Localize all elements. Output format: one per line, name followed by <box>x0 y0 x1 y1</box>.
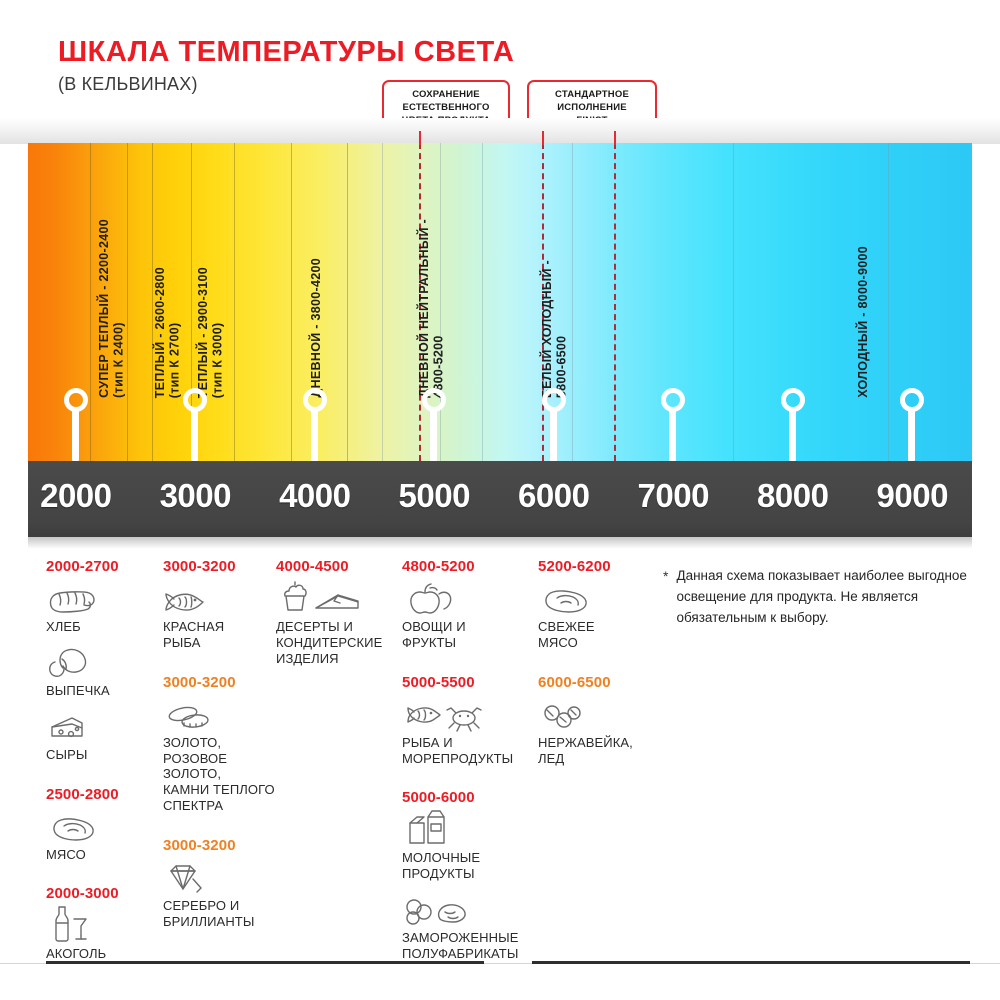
scale-number-8000: 8000 <box>757 477 828 515</box>
legend-group-gap <box>538 660 658 674</box>
bottom-rule-right <box>532 961 970 964</box>
scale-number-6000: 6000 <box>518 477 589 515</box>
legend-item-caption: МОЛОЧНЫЕ ПРОДУКТЫ <box>402 850 538 882</box>
legend-item-caption: СЫРЫ <box>46 747 158 763</box>
bread-icon <box>46 580 158 616</box>
pin-stem <box>72 409 79 461</box>
legend-item-caption: СЕРЕБРО ИБРИЛЛИАНТЫ <box>163 898 275 930</box>
scale-number-2000: 2000 <box>40 477 111 515</box>
scale-number-3000: 3000 <box>160 477 231 515</box>
scale-bar-shadow <box>28 537 972 549</box>
pin-stem <box>430 409 437 461</box>
cupcake-cake-icon <box>276 580 400 616</box>
legend-group-gap <box>402 660 538 674</box>
legend-range-label: 3000-3200 <box>163 674 275 691</box>
legend-group-gap <box>46 871 158 885</box>
frozen-food-icon <box>402 891 538 927</box>
callout-line: ИСПОЛНЕНИЕ <box>535 102 649 115</box>
legend-group-gap <box>163 823 275 837</box>
legend-item: СЕРЕБРО ИБРИЛЛИАНТЫ <box>163 859 275 930</box>
cheese-icon <box>46 708 158 744</box>
legend-item: ЗАМОРОЖЕННЫЕПОЛУФАБРИКАТЫ <box>402 891 538 962</box>
legend-item: СЫРЫ <box>46 708 158 763</box>
pastry-icon <box>46 644 158 680</box>
callout-stem <box>614 131 616 145</box>
meat-icon <box>46 808 158 844</box>
legend-range-label: 5200-6200 <box>538 558 658 575</box>
pin-stem <box>311 409 318 461</box>
spectrum-dashed-marker <box>614 143 616 461</box>
legend-item: КРАСНАЯРЫБА <box>163 580 275 651</box>
legend-range-label: 6000-6500 <box>538 674 658 691</box>
callout-line: СТАНДАРТНОЕ <box>535 89 649 102</box>
legend-range-label: 4000-4500 <box>276 558 400 575</box>
spectrum-label-warm-3000: ТЕПЛЫЙ - 2900-3100 (тип К 3000) <box>196 267 225 398</box>
fresh-meat-icon <box>538 580 658 616</box>
legend-group-gap <box>402 775 538 789</box>
callout-stem <box>419 131 421 145</box>
legend-range-label: 2500-2800 <box>46 786 158 803</box>
spectrum-chart: СУПЕР ТЕПЛЫЙ - 2200-2400 (тип К 2400)ТЕП… <box>28 143 972 461</box>
diamond-icon <box>163 859 275 895</box>
page-title: ШКАЛА ТЕМПЕРАТУРЫ СВЕТА <box>58 36 514 69</box>
spectrum-divider <box>234 143 235 461</box>
legend-item-caption: КРАСНАЯРЫБА <box>163 619 275 651</box>
legend-column-4: 4800-5200ОВОЩИ ИФРУКТЫ5000-5500РЫБА ИМОР… <box>402 558 538 971</box>
legend-range-label: 5000-6000 <box>402 789 538 806</box>
spectrum-label-daylight: ДНЕВНОЙ - 3800-4200 <box>309 258 323 398</box>
legend-item-caption: РЫБА ИМОРЕПРОДУКТЫ <box>402 735 538 767</box>
scale-number-7000: 7000 <box>638 477 709 515</box>
legend-range-label: 2000-3000 <box>46 885 158 902</box>
legend-group-gap <box>163 660 275 674</box>
pin-stem <box>191 409 198 461</box>
legend-range-label: 3000-3200 <box>163 837 275 854</box>
legend-item-caption: ХЛЕБ <box>46 619 158 635</box>
legend-range-label: 3000-3200 <box>163 558 275 575</box>
legend-item: МЯСО <box>46 808 158 863</box>
spectrum-divider <box>382 143 383 461</box>
spectrum-label-daylight-neutral: ДНЕВНОЙ НЕЙТРАЛЬНЫЙ - 4800-5200 <box>417 219 446 398</box>
scale-number-9000: 9000 <box>877 477 948 515</box>
spectrum-divider <box>733 143 734 461</box>
spectrum-divider <box>90 143 91 461</box>
fish-crab-icon <box>402 696 538 732</box>
legend-range-label: 4800-5200 <box>402 558 538 575</box>
legend-range-label: 5000-5500 <box>402 674 538 691</box>
legend-item-caption: ВЫПЕЧКА <box>46 683 158 699</box>
spectrum-divider <box>482 143 483 461</box>
legend-item: ХЛЕБ <box>46 580 158 635</box>
legend-item-caption: ДЕСЕРТЫ ИКОНДИТЕРСКИЕИЗДЕЛИЯ <box>276 619 400 667</box>
legend-column-2: 3000-3200КРАСНАЯРЫБА3000-3200ЗОЛОТО,РОЗО… <box>163 558 275 939</box>
legend-range-label: 2000-2700 <box>46 558 158 575</box>
legend-item: МОЛОЧНЫЕ ПРОДУКТЫ <box>402 811 538 882</box>
legend-item-caption: НЕРЖАВЕЙКА,ЛЕД <box>538 735 658 767</box>
fruit-vegetable-icon <box>402 580 538 616</box>
fish-icon <box>163 580 275 616</box>
top-shade-band <box>0 118 1000 144</box>
spectrum-divider <box>291 143 292 461</box>
spectrum-label-white-cold: БЕЛЫЙ ХОЛОДНЫЙ - 5800-6500 <box>540 260 569 398</box>
spectrum-divider <box>888 143 889 461</box>
kelvin-scale-bar: 20003000400050006000700080009000 <box>28 461 972 537</box>
legend-item-caption: ЗОЛОТО,РОЗОВОЕ ЗОЛОТО,КАМНИ ТЕПЛОГОСПЕКТ… <box>163 735 275 814</box>
scale-number-4000: 4000 <box>279 477 350 515</box>
legend-item: НЕРЖАВЕЙКА,ЛЕД <box>538 696 658 767</box>
legend-column-1: 2000-2700ХЛЕБВЫПЕЧКАСЫРЫ2500-2800МЯСО200… <box>46 558 158 971</box>
bottom-rule-left <box>46 961 484 964</box>
spectrum-divider <box>572 143 573 461</box>
legend-column-3: 4000-4500ДЕСЕРТЫ ИКОНДИТЕРСКИЕИЗДЕЛИЯ <box>276 558 400 676</box>
pin-stem <box>789 409 796 461</box>
callout-line: ЕСТЕСТВЕННОГО <box>390 102 502 115</box>
pin-stem <box>669 409 676 461</box>
milk-carton-icon <box>402 811 538 847</box>
ice-cubes-icon <box>538 696 658 732</box>
spectrum-label-cold: ХОЛОДНЫЙ - 8000-9000 <box>856 246 870 398</box>
legend-item: ВЫПЕЧКА <box>46 644 158 699</box>
spectrum-divider <box>347 143 348 461</box>
footnote-text: Данная схема показывает наиболее выгодно… <box>676 566 983 629</box>
legend-item: ДЕСЕРТЫ ИКОНДИТЕРСКИЕИЗДЕЛИЯ <box>276 580 400 667</box>
legend-item: ЗОЛОТО,РОЗОВОЕ ЗОЛОТО,КАМНИ ТЕПЛОГОСПЕКТ… <box>163 696 275 814</box>
legend-item-caption: СВЕЖЕЕМЯСО <box>538 619 658 651</box>
legend-item: АКОГОЛЬ <box>46 907 158 962</box>
legend-item-caption: МЯСО <box>46 847 158 863</box>
rings-icon <box>163 696 275 732</box>
legend-group-gap <box>46 772 158 786</box>
legend-item-caption: ОВОЩИ ИФРУКТЫ <box>402 619 538 651</box>
spectrum-label-super-warm: СУПЕР ТЕПЛЫЙ - 2200-2400 (тип К 2400) <box>97 219 126 398</box>
legend-item: ОВОЩИ ИФРУКТЫ <box>402 580 538 651</box>
callout-line: СОХРАНЕНИЕ <box>390 89 502 102</box>
spectrum-divider <box>127 143 128 461</box>
pin-stem <box>908 409 915 461</box>
legend-item: СВЕЖЕЕМЯСО <box>538 580 658 651</box>
pin-stem <box>550 409 557 461</box>
spectrum-label-warm-2700: ТЕПЛЫЙ - 2600-2800 (тип К 2700) <box>153 267 182 398</box>
scale-number-5000: 5000 <box>399 477 470 515</box>
legend-column-5: 5200-6200СВЕЖЕЕМЯСО6000-6500НЕРЖАВЕЙКА,Л… <box>538 558 658 775</box>
legend-item: РЫБА ИМОРЕПРОДУКТЫ <box>402 696 538 767</box>
footnote-asterisk: * <box>663 566 668 629</box>
alcohol-bottle-glass-icon <box>46 907 158 943</box>
legend-item-caption: АКОГОЛЬ <box>46 946 158 962</box>
legend-item-caption: ЗАМОРОЖЕННЫЕПОЛУФАБРИКАТЫ <box>402 930 538 962</box>
callout-stem <box>542 131 544 145</box>
footnote: * Данная схема показывает наиболее выгод… <box>663 566 983 629</box>
